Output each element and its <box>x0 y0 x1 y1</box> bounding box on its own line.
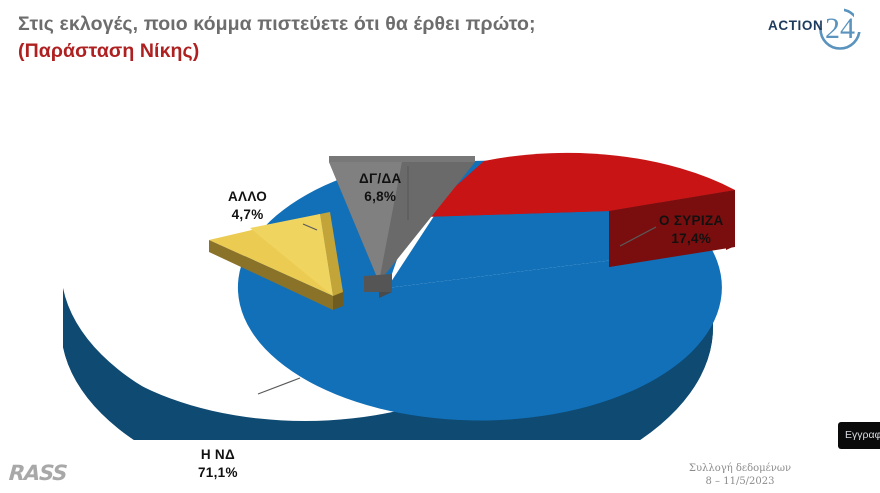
label-allo-value: 4,7% <box>228 206 267 224</box>
page-title: Στις εκλογές, ποιο κόμμα πιστεύετε ότι θ… <box>18 11 748 65</box>
label-syriza-name: Ο ΣΥΡΙΖΑ <box>659 213 724 228</box>
subscribe-button[interactable]: Εγγραφή <box>838 422 880 449</box>
title-question: Στις εκλογές, ποιο κόμμα πιστεύετε ότι θ… <box>18 11 748 38</box>
svg-text:24: 24 <box>825 12 855 45</box>
logo-wordmark: ACTION <box>768 18 823 33</box>
data-collection-note: Συλλογή δεδομένων 8 – 11/5/2023 <box>640 462 840 488</box>
collection-dates: 8 – 11/5/2023 <box>640 475 840 488</box>
label-allo-name: ΑΛΛΟ <box>228 189 267 204</box>
label-allo: ΑΛΛΟ 4,7% <box>228 188 267 224</box>
label-dgda-value: 6,8% <box>359 188 402 206</box>
pie-chart: ΑΛΛΟ 4,7% ΔΓ/ΔΑ 6,8% Ο ΣΥΡΙΖΑ 17,4% Η ΝΔ… <box>0 60 880 440</box>
label-syriza-value: 17,4% <box>659 230 724 248</box>
label-dgda-name: ΔΓ/ΔΑ <box>359 171 402 186</box>
action24-logo: ACTION 24 <box>768 8 872 54</box>
label-dgda: ΔΓ/ΔΑ 6,8% <box>359 170 402 206</box>
rass-logo: RASS <box>8 461 67 485</box>
slide-canvas: Στις εκλογές, ποιο κόμμα πιστεύετε ότι θ… <box>0 0 880 493</box>
leader-line-nd <box>258 378 300 394</box>
label-nd-value: 71,1% <box>198 464 238 482</box>
label-nd: Η ΝΔ 71,1% <box>198 446 238 482</box>
pie-chart-svg <box>0 60 880 440</box>
label-syriza: Ο ΣΥΡΙΖΑ 17,4% <box>659 212 724 248</box>
collection-label: Συλλογή δεδομένων <box>640 462 840 475</box>
label-nd-name: Η ΝΔ <box>201 447 235 462</box>
